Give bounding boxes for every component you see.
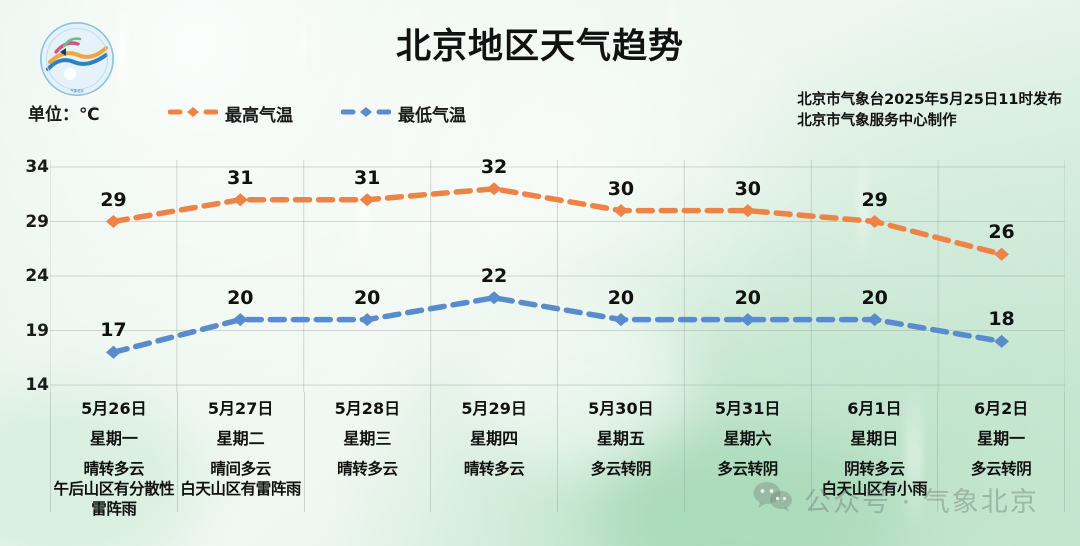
data-label: 20 [608,287,634,309]
data-label: 29 [100,189,126,211]
day-weekday: 星期六 [685,430,811,448]
y-axis-tick-34: 34 [9,157,49,177]
legend-dash-marker-icon [168,104,218,124]
svg-text:气象北京: 气象北京 [70,88,84,93]
day-column[interactable]: 5月28日星期三晴转多云 [304,392,431,512]
day-column[interactable]: 5月26日星期一晴转多云 午后山区有分散性 雷阵雨 [50,392,177,512]
day-column[interactable]: 5月29日星期四晴转多云 [430,392,557,512]
y-axis-tick-14: 14 [9,375,49,395]
day-weather-desc: 晴转多云 [431,460,557,480]
day-column[interactable]: 5月31日星期六多云转阴 [684,392,811,512]
legend-item-low-temp[interactable]: 最低气温 [341,101,466,126]
day-date: 6月2日 [938,400,1064,418]
legend-label-low-temp: 最低气温 [398,101,466,126]
day-date: 5月30日 [558,400,684,418]
data-label: 20 [227,287,253,309]
y-axis-tick-19: 19 [9,321,49,341]
publisher-info: 北京市气象台2025年5月25日11时发布 北京市气象服务中心制作 [797,90,1062,131]
legend-dash-marker-icon [341,104,391,124]
publisher-line-2: 北京市气象服务中心制作 [797,111,1062,132]
day-columns: 5月26日星期一晴转多云 午后山区有分散性 雷阵雨5月27日星期二晴间多云 白天… [50,392,1065,512]
day-weekday: 星期一 [51,430,177,448]
day-date: 5月28日 [305,400,431,418]
day-date: 5月31日 [685,400,811,418]
day-weather-desc: 晴间多云 白天山区有雷阵雨 [178,460,304,500]
data-label: 22 [481,265,507,287]
day-date: 5月26日 [51,400,177,418]
data-label: 32 [481,156,507,178]
day-weekday: 星期二 [178,430,304,448]
data-label: 20 [354,287,380,309]
day-weather-desc: 多云转阴 [685,460,811,480]
day-weather-desc: 多云转阴 [558,460,684,480]
y-axis-tick-24: 24 [9,266,49,286]
data-label: 18 [988,308,1014,330]
data-label: 30 [608,178,634,200]
data-label: 17 [100,319,126,341]
data-label: 26 [988,221,1014,243]
day-weather-desc: 阴转多云 白天山区有小雨 [812,460,938,500]
day-column[interactable]: 5月30日星期五多云转阴 [557,392,684,512]
data-label: 20 [861,287,887,309]
data-label: 29 [861,189,887,211]
day-weekday: 星期三 [305,430,431,448]
unit-label: 单位：℃ [28,100,100,125]
weather-trend-infographic: 气象北京 北京地区天气趋势 单位：℃ 最高气温 [0,0,1080,546]
day-date: 6月1日 [812,400,938,418]
page-title: 北京地区天气趋势 [0,18,1080,69]
day-weekday: 星期四 [431,430,557,448]
data-label: 20 [735,287,761,309]
temperature-chart: 1419242934 29313132303029261720202220202… [50,160,1065,392]
day-date: 5月27日 [178,400,304,418]
day-weekday: 星期日 [812,430,938,448]
day-weather-desc: 多云转阴 [938,460,1064,480]
legend-item-high-temp[interactable]: 最高气温 [168,101,293,126]
chart-legend: 最高气温 最低气温 [168,101,466,126]
y-axis-tick-29: 29 [9,212,49,232]
day-date: 5月29日 [431,400,557,418]
day-weekday: 星期五 [558,430,684,448]
day-column[interactable]: 6月1日星期日阴转多云 白天山区有小雨 [811,392,938,512]
day-weather-desc: 晴转多云 午后山区有分散性 雷阵雨 [51,460,177,519]
day-column[interactable]: 5月27日星期二晴间多云 白天山区有雷阵雨 [177,392,304,512]
data-label: 30 [735,178,761,200]
day-weather-desc: 晴转多云 [305,460,431,480]
data-label: 31 [354,167,380,189]
data-label: 31 [227,167,253,189]
legend-label-high-temp: 最高气温 [225,101,293,126]
day-weekday: 星期一 [938,430,1064,448]
day-column[interactable]: 6月2日星期一多云转阴 [937,392,1065,512]
publisher-line-1: 北京市气象台2025年5月25日11时发布 [797,90,1062,111]
